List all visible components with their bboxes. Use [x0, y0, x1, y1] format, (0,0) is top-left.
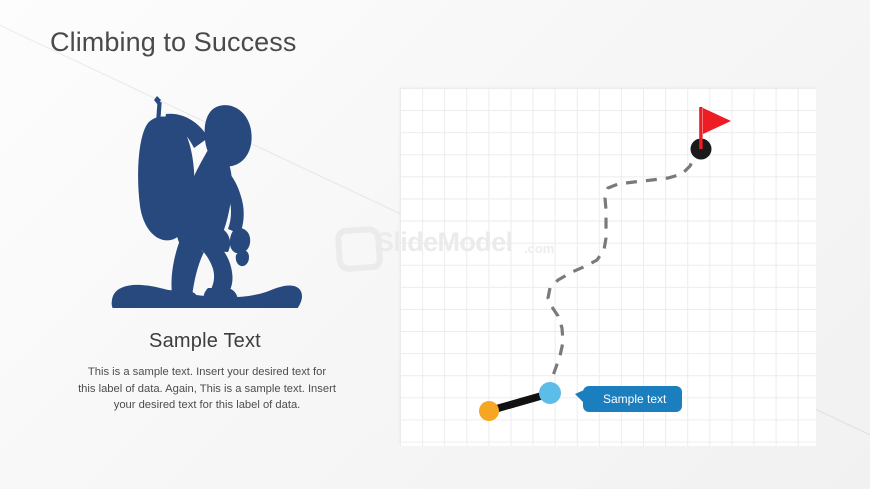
slide-canvas: Climbing to Success — [0, 0, 870, 489]
callout-bubble[interactable]: Sample text — [583, 386, 682, 412]
sample-body-text: This is a sample text. Insert your desir… — [78, 364, 336, 414]
sample-heading: Sample Text — [60, 330, 350, 353]
climber-silhouette-icon — [108, 88, 308, 308]
climber-illustration — [60, 88, 350, 308]
callout-label: Sample text — [603, 392, 666, 406]
page-title: Climbing to Success — [50, 27, 297, 58]
left-content-column: Sample Text This is a sample text. Inser… — [60, 88, 350, 414]
